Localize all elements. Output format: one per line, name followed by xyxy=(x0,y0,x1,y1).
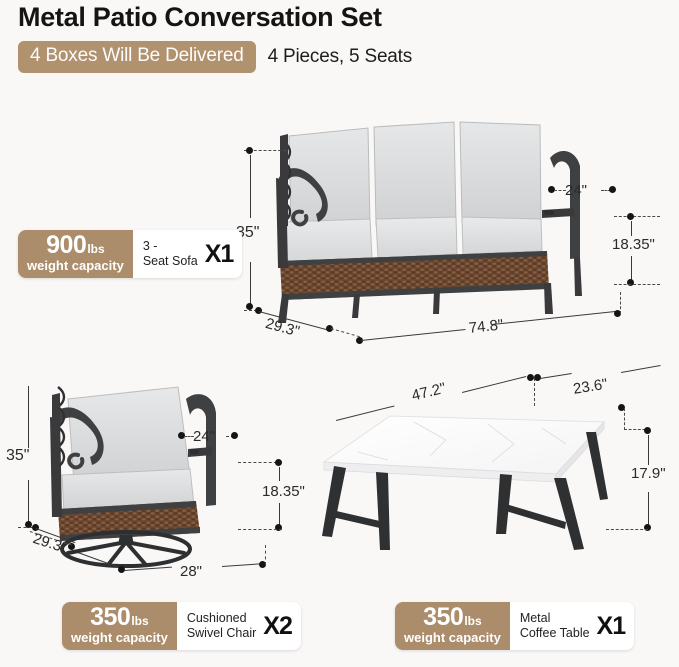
chair-item-name: Cushioned Swivel Chair xyxy=(187,611,256,642)
sofa-seatheight-label: 18.35" xyxy=(612,236,655,253)
page-title: Metal Patio Conversation Set xyxy=(18,2,382,33)
chair-capacity-unit: lbs xyxy=(131,614,148,628)
table-capacity-unit: lbs xyxy=(464,614,481,628)
chair-capacity-label: weight capacity xyxy=(71,631,168,645)
table-length-label: 47.2" xyxy=(410,380,448,405)
coffee-table-illustration xyxy=(318,404,638,554)
chair-width-label: 28" xyxy=(180,563,202,580)
sofa-capacity-unit: lbs xyxy=(87,242,104,256)
table-height-label: 17.9" xyxy=(631,465,666,482)
sofa-width-label: 74.8" xyxy=(468,316,504,337)
table-item-name: Metal Coffee Table xyxy=(520,611,590,642)
sofa-illustration xyxy=(258,118,628,323)
sofa-capacity-badge: 900 lbs weight capacity 3 - Seat Sofa X1 xyxy=(18,230,242,278)
swivel-chair-illustration xyxy=(38,383,238,565)
sofa-capacity-block: 900 lbs weight capacity xyxy=(18,230,133,278)
chair-arm-label: 24" xyxy=(193,428,215,445)
chair-info-block: Cushioned Swivel Chair X2 xyxy=(177,602,301,650)
sofa-capacity-number: 900 xyxy=(46,233,86,258)
header-subrow: 4 Boxes Will Be Delivered 4 Pieces, 5 Se… xyxy=(18,41,412,73)
table-capacity-block: 350 lbs weight capacity xyxy=(395,602,510,650)
pieces-seats-text: 4 Pieces, 5 Seats xyxy=(268,46,412,68)
table-capacity-number: 350 xyxy=(423,605,463,630)
table-info-block: Metal Coffee Table X1 xyxy=(510,602,634,650)
chair-capacity-badge: 350 lbs weight capacity Cushioned Swivel… xyxy=(62,602,301,650)
table-capacity-label: weight capacity xyxy=(404,631,501,645)
table-capacity-badge: 350 lbs weight capacity Metal Coffee Tab… xyxy=(395,602,634,650)
chair-quantity: X2 xyxy=(263,612,292,641)
sofa-quantity: X1 xyxy=(205,240,234,269)
chair-height-label: 35" xyxy=(6,447,29,465)
sofa-info-block: 3 - Seat Sofa X1 xyxy=(133,230,243,278)
delivery-pill: 4 Boxes Will Be Delivered xyxy=(18,41,256,73)
chair-seatheight-label: 18.35" xyxy=(262,483,305,500)
chair-capacity-block: 350 lbs weight capacity xyxy=(62,602,177,650)
sofa-arm-label: 24" xyxy=(565,182,587,199)
sofa-item-name: 3 - Seat Sofa xyxy=(143,239,198,270)
sofa-capacity-label: weight capacity xyxy=(27,259,124,273)
chair-capacity-number: 350 xyxy=(90,605,130,630)
table-quantity: X1 xyxy=(597,612,626,641)
table-width-label: 23.6" xyxy=(572,376,609,398)
